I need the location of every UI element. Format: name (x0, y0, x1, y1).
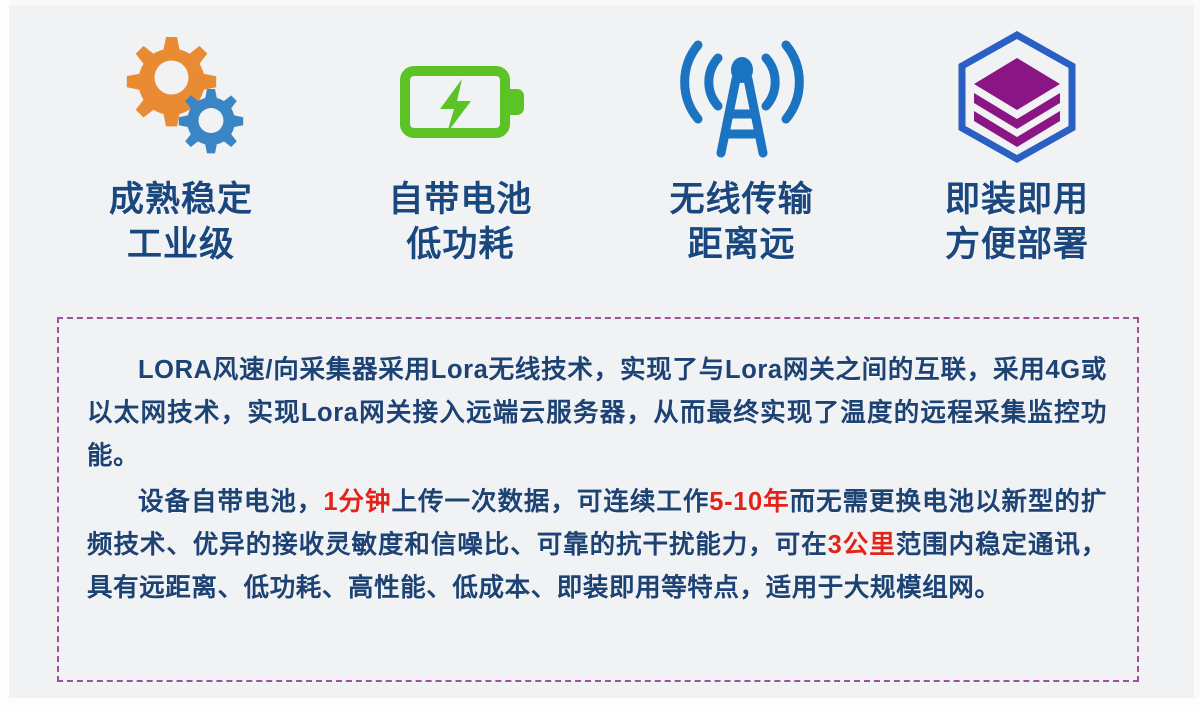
feature-item-wireless-transmission: 无线传输 距离远 (617, 22, 867, 268)
feature-row: 成熟稳定 工业级 自带电池 低功耗 (62, 22, 1142, 292)
feature-caption-wireless-transmission: 无线传输 距离远 (670, 178, 814, 268)
feature-caption-built-in-battery: 自带电池 低功耗 (388, 178, 532, 268)
description-paragraph-1: LORA风速/向采集器采用Lora无线技术，实现了与Lora网关之间的互联，采用… (87, 349, 1107, 478)
feature-caption-plug-and-play: 即装即用 方便部署 (945, 178, 1089, 268)
paragraph-2-highlight-range: 3公里 (828, 531, 896, 559)
feature-item-plug-and-play: 即装即用 方便部署 (892, 22, 1142, 268)
layers-hexagon-icon (947, 22, 1087, 172)
feature-caption-line2: 低功耗 (388, 223, 532, 268)
description-paragraph-2: 设备自带电池，1分钟上传一次数据，可连续工作5-10年而无需更换电池以新型的扩频… (87, 481, 1107, 610)
feature-caption-industrial-grade: 成熟稳定 工业级 (109, 178, 253, 268)
feature-caption-line1: 即装即用 (945, 180, 1089, 219)
paragraph-2-segment-1: 设备自带电池， (138, 488, 323, 516)
feature-caption-line2: 距离远 (670, 223, 814, 268)
description-body: LORA风速/向采集器采用Lora无线技术，实现了与Lora网关之间的互联，采用… (59, 319, 1137, 610)
gears-icon (111, 22, 251, 172)
description-box: LORA风速/向采集器采用Lora无线技术，实现了与Lora网关之间的互联，采用… (57, 317, 1139, 682)
feature-caption-line2: 方便部署 (945, 223, 1089, 268)
edge-strip-right (1194, 0, 1200, 706)
feature-item-built-in-battery: 自带电池 低功耗 (335, 22, 585, 268)
feature-item-industrial-grade: 成熟稳定 工业级 (56, 22, 306, 268)
edge-strip-top (0, 0, 1200, 5)
feature-caption-line1: 无线传输 (670, 180, 814, 219)
edge-strip-left (0, 0, 9, 706)
antenna-tower-icon (672, 22, 812, 172)
feature-caption-line1: 成熟稳定 (109, 180, 253, 219)
battery-charging-icon (390, 22, 530, 172)
paragraph-2-highlight-lifetime: 5-10年 (709, 488, 789, 516)
edge-strip-bottom (0, 698, 1200, 706)
feature-caption-line1: 自带电池 (388, 180, 532, 219)
page-root: 成熟稳定 工业级 自带电池 低功耗 (0, 0, 1200, 706)
feature-caption-line2: 工业级 (109, 223, 253, 268)
paragraph-2-segment-2: 上传一次数据，可连续工作 (392, 488, 710, 516)
paragraph-2-highlight-interval: 1分钟 (323, 488, 391, 516)
